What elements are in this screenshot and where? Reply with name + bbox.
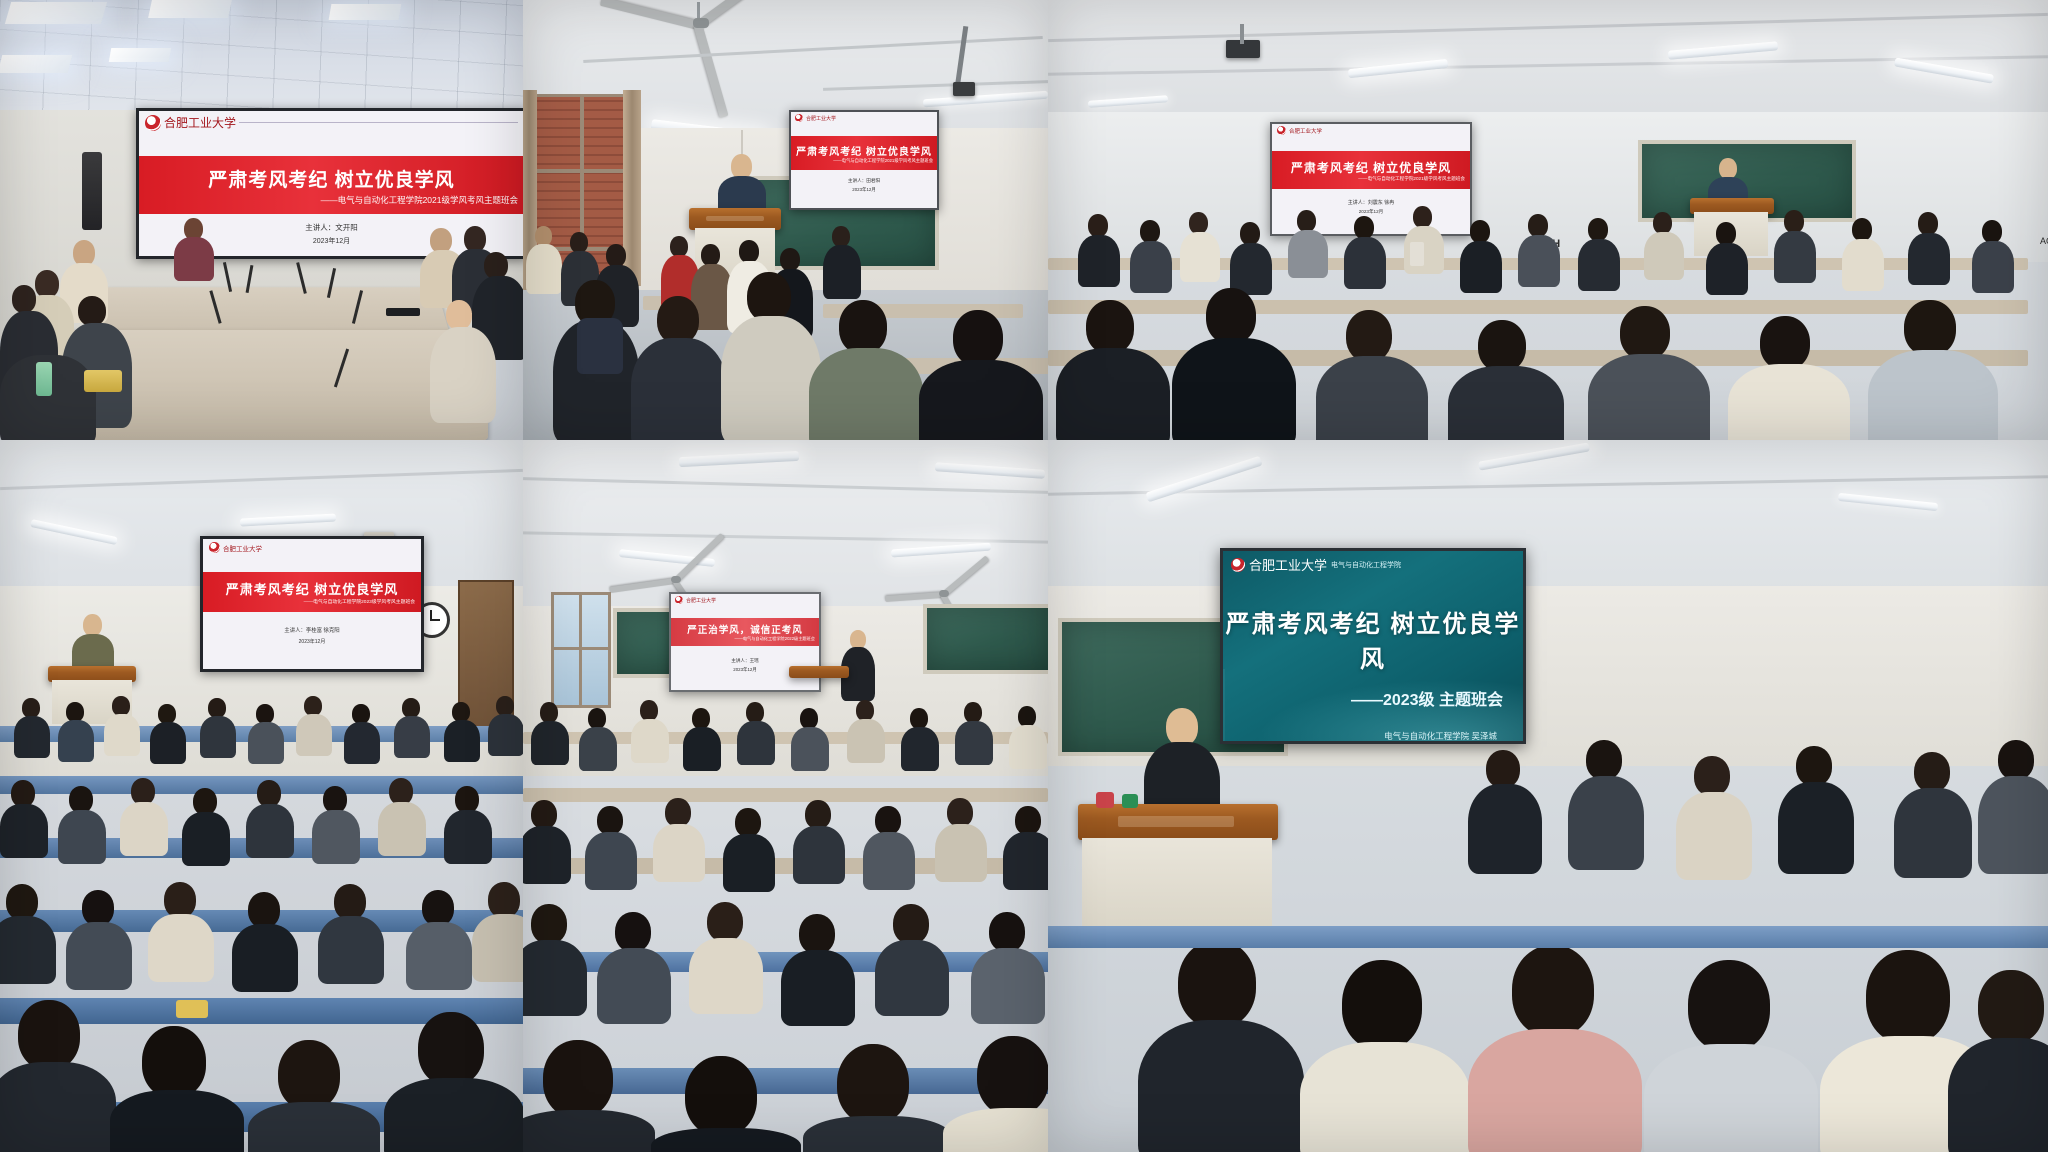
backpack: [577, 318, 623, 374]
speaker: [718, 154, 764, 214]
seated-student-foreground: [1728, 316, 1846, 440]
ceiling-light: [109, 48, 171, 62]
seated-student: [430, 300, 492, 420]
seated-student-foreground: [943, 1036, 1048, 1152]
presenter: [172, 218, 216, 280]
slide-logo-row: 合肥工业大学: [671, 594, 819, 606]
slide-screen-6: 合肥工业大学 电气与自动化工程学院 严肃考风考纪 树立优良学风 ——2023级 …: [1220, 548, 1526, 744]
slide-subtitle: ——2023级 主题班会: [1223, 686, 1523, 710]
slide-subtitle: ——电气与自动化工程学院2021级学风考风主题班会: [833, 158, 933, 164]
photo-3: 合肥工业大学 严肃考风考纪 树立优良学风 ——电气与自动化工程学院2021级学风…: [1048, 0, 2048, 440]
audience-group: [523, 890, 1048, 1060]
seated-student-foreground: [523, 1040, 649, 1152]
seated-student-foreground: [1868, 300, 1994, 440]
department-header: 电气与自动化工程学院: [1331, 560, 1401, 570]
water-bottle: [36, 362, 52, 396]
slide-presenter: 主讲人：田君阳: [791, 178, 937, 184]
seated-student-foreground: [631, 296, 723, 440]
seated-student-foreground: [384, 1012, 518, 1152]
slide-title-band: 严肃考风考纪 树立优良学风 ——电气与自动化工程学院2023级学风考风主题班会: [203, 572, 421, 612]
chalkboard: [923, 604, 1048, 674]
slide-title: 严肃考风考纪 树立优良学风: [1223, 604, 1523, 674]
slide-subtitle: ——电气与自动化工程学院2021级学风考风主题班会: [321, 194, 518, 206]
seated-student-foreground: [248, 1040, 374, 1152]
seated-student-foreground: [1300, 960, 1464, 1152]
seated-student: [1676, 756, 1748, 876]
lectern-nameplate: [706, 216, 765, 221]
bench-row: [1048, 926, 2048, 948]
university-seal-icon: [209, 542, 220, 553]
photo-1: 合肥工业大学 严肃考风考纪 树立优良学风 ——电气与自动化工程学院2021级学风…: [0, 0, 523, 440]
seated-student-foreground: [1316, 310, 1424, 440]
wall-speaker: [82, 152, 102, 230]
slide-logo-row: 合肥工业大学 电气与自动化工程学院: [1223, 551, 1523, 578]
lectern: [689, 208, 781, 230]
ceiling-light: [148, 0, 232, 18]
slide-screen-4: 合肥工业大学 严肃考风考纪 树立优良学风 ——电气与自动化工程学院2023级学风…: [200, 536, 424, 672]
photo-2: 合肥工业大学 严肃考风考纪 树立优良学风 ——电气与自动化工程学院2021级学风…: [523, 0, 1048, 440]
photo-4: 合肥工业大学 严肃考风考纪 树立优良学风 ——电气与自动化工程学院2023级学风…: [0, 440, 523, 1152]
seated-student-foreground: [1056, 300, 1166, 440]
projector: [953, 82, 975, 96]
seated-student-foreground: [1448, 320, 1560, 440]
slide-presenter: 主讲人：王瑶: [671, 658, 819, 664]
seated-student-foreground: [0, 1000, 110, 1152]
slide-title-band: 严肃考风考纪 树立优良学风 ——电气与自动化工程学院2021级学风考风主题班会: [791, 136, 937, 170]
snack-box: [84, 370, 122, 392]
slide-logo-row: 合肥工业大学: [203, 539, 421, 556]
slide-title: 严肃考风考纪 树立优良学风: [796, 143, 932, 158]
slide-title: 严肃考风考纪 树立优良学风: [226, 579, 399, 598]
seated-student-foreground: [919, 310, 1037, 440]
lectern-item: [1096, 792, 1114, 808]
photo-6: 合肥工业大学 电气与自动化工程学院 严肃考风考纪 树立优良学风 ——2023级 …: [1048, 440, 2048, 1152]
slide-title: 严肃考风考纪 树立优良学风: [1291, 159, 1451, 176]
seated-student: [1778, 746, 1850, 870]
ceiling-light: [0, 55, 72, 73]
ceiling-fan: [939, 590, 947, 598]
snack-item: [176, 1000, 208, 1018]
slide-title-band: 严正治学风，诚信正考风 ——电气与自动化工程学院2022级主题班会: [671, 618, 819, 646]
university-name: 合肥工业大学: [686, 597, 716, 604]
ceiling-light: [5, 2, 107, 24]
slide-presenter: 主讲人：李桂富 徐克阳: [203, 626, 421, 634]
seated-student-foreground: [1172, 288, 1292, 440]
drink-cup: [1410, 242, 1424, 266]
seated-student-foreground: [1948, 970, 2048, 1152]
seated-student: [1978, 740, 2048, 870]
seated-student-foreground: [110, 1026, 238, 1152]
university-seal-icon: [1231, 558, 1245, 572]
seated-student-foreground: [809, 300, 919, 440]
seated-student-foreground: [1468, 945, 1636, 1152]
university-name: 合肥工业大学: [164, 114, 236, 131]
slide-subtitle: ——电气与自动化工程学院2021级学风考风主题班会: [1358, 176, 1465, 182]
presenter: [72, 614, 112, 672]
slide-screen-2: 合肥工业大学 严肃考风考纪 树立优良学风 ——电气与自动化工程学院2021级学风…: [789, 110, 939, 210]
seated-student: [1894, 752, 1968, 874]
seated-student: [823, 226, 859, 296]
slide-date: 2023年12月: [791, 187, 937, 193]
seated-student-foreground: [721, 272, 817, 440]
slide-logo-row: 合肥工业大学: [791, 112, 937, 124]
university-seal-icon: [675, 596, 683, 604]
seated-student-foreground: [1138, 940, 1298, 1152]
university-seal-icon: [1277, 126, 1286, 135]
ceiling-light: [329, 4, 402, 20]
notebook: [386, 308, 420, 316]
university-seal-icon: [795, 114, 803, 122]
instructor: [841, 630, 873, 698]
lectern-item: [1122, 794, 1138, 808]
projector-mount: [1240, 24, 1244, 44]
university-name: 合肥工业大学: [1289, 127, 1322, 135]
photo-5: 合肥工业大学 严正治学风，诚信正考风 ——电气与自动化工程学院2022级主题班会…: [523, 440, 1048, 1152]
lectern: [1078, 804, 1278, 840]
ceiling-fan: [693, 18, 703, 28]
slide-subtitle: ——电气与自动化工程学院2022级主题班会: [734, 636, 815, 642]
photo-collage: 合肥工业大学 严肃考风考纪 树立优良学风 ——电气与自动化工程学院2021级学风…: [0, 0, 2048, 1152]
slide-logo-row: 合肥工业大学: [139, 111, 523, 134]
slide-presenter-org: 电气与自动化工程学院 吴泽城: [1223, 730, 1523, 742]
lectern-cabinet: [1082, 838, 1272, 934]
university-name: 合肥工业大学: [806, 115, 836, 122]
slide-title-band: 严肃考风考纪 树立优良学风 ——电气与自动化工程学院2021级学风考风主题班会: [139, 156, 523, 214]
slide-title-band: 严肃考风考纪 树立优良学风 ——电气与自动化工程学院2021级学风考风主题班会: [1272, 151, 1470, 189]
slide-date: 2023年12月: [203, 638, 421, 645]
seated-student-foreground: [803, 1044, 947, 1152]
seated-student-foreground: [1644, 960, 1812, 1152]
slide-logo-row: 合肥工业大学: [1272, 124, 1470, 137]
ceiling-fan: [671, 576, 679, 584]
seated-student-foreground: [651, 1056, 795, 1152]
window: [551, 592, 611, 708]
seated-student: [1468, 750, 1538, 870]
university-seal-icon: [145, 115, 161, 131]
lectern: [789, 666, 849, 678]
slide-title: 严肃考风考纪 树立优良学风: [208, 165, 454, 192]
lectern-nameplate: [1118, 816, 1234, 827]
university-name: 合肥工业大学: [223, 543, 262, 553]
seated-student-foreground: [1588, 306, 1706, 440]
slide-title: 严正治学风，诚信正考风: [687, 622, 803, 636]
slide-subtitle: ——电气与自动化工程学院2023级学风考风主题班会: [304, 598, 415, 605]
university-name: 合肥工业大学: [1249, 555, 1327, 574]
seated-student: [1568, 740, 1640, 866]
